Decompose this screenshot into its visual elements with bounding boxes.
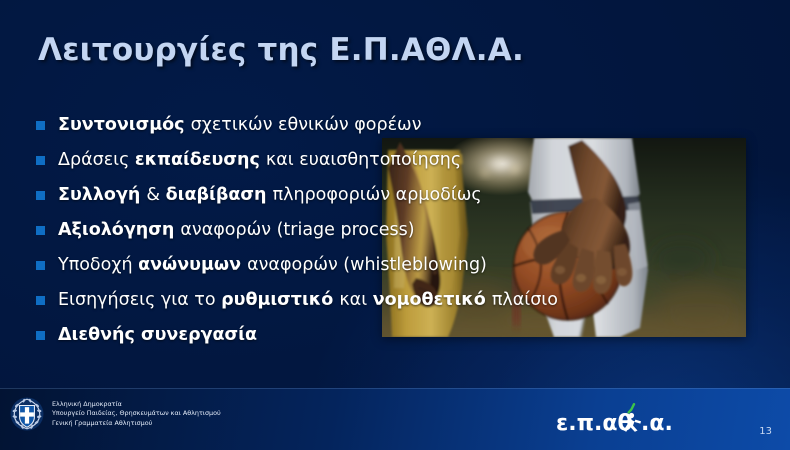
gov-line-1: Υπουργείο Παιδείας, Θρησκευμάτων και Αθλ… [52, 409, 221, 419]
bullet-text-1: Δράσεις εκπαίδευσης και ευαισθητοποίησης [58, 147, 461, 173]
square-bullet-icon [36, 156, 45, 165]
bullet-text-0: Συντονισμός σχετικών εθνικών φορέων [58, 112, 421, 138]
footer-divider [0, 388, 790, 389]
bullet-text-6: Διεθνής συνεργασία [58, 322, 257, 348]
square-bullet-icon [36, 261, 45, 270]
government-branding: Ελληνική Δημοκρατία Υπουργείο Παιδείας, … [10, 397, 221, 431]
list-item: Συλλογή & διαβίβαση πληροφοριών αρμοδίως [36, 182, 756, 217]
bullet-text-4: Υποδοχή ανώνυμων αναφορών (whistleblowin… [58, 252, 487, 278]
gov-line-0: Ελληνική Δημοκρατία [52, 400, 221, 410]
list-item: Διεθνής συνεργασία [36, 322, 756, 357]
gov-line-2: Γενική Γραμματεία Αθλητισμού [52, 419, 221, 429]
hellenic-republic-coat-of-arms-icon [10, 397, 44, 431]
epathla-text-before: ε.π.αθ [556, 411, 633, 436]
slide-footer: Ελληνική Δημοκρατία Υπουργείο Παιδείας, … [0, 388, 790, 450]
square-bullet-icon [36, 296, 45, 305]
square-bullet-icon [36, 331, 45, 340]
list-item: Συντονισμός σχετικών εθνικών φορέων [36, 112, 756, 147]
square-bullet-icon [36, 121, 45, 130]
bullet-list: Συντονισμός σχετικών εθνικών φορέων Δράσ… [36, 112, 756, 357]
epathla-text-after: .α. [641, 411, 673, 436]
list-item: Εισηγήσεις για το ρυθμιστικό και νομοθετ… [36, 287, 756, 322]
page-number: 13 [759, 426, 772, 437]
bullet-text-5: Εισηγήσεις για το ρυθμιστικό και νομοθετ… [58, 287, 558, 313]
epathla-logo-mark: ε.π.αθ .α. [556, 400, 676, 436]
government-text-block: Ελληνική Δημοκρατία Υπουργείο Παιδείας, … [52, 400, 221, 429]
epathla-logo: ε.π.αθ .α. [556, 400, 676, 436]
square-bullet-icon [36, 226, 45, 235]
bullet-text-2: Συλλογή & διαβίβαση πληροφοριών αρμοδίως [58, 182, 482, 208]
list-item: Δράσεις εκπαίδευσης και ευαισθητοποίησης [36, 147, 756, 182]
page-title: Λειτουργίες της Ε.Π.ΑΘΛ.Α. [38, 32, 524, 68]
presentation-slide: Λειτουργίες της Ε.Π.ΑΘΛ.Α. [0, 0, 790, 450]
green-check-icon [629, 404, 634, 412]
bullet-text-3: Αξιολόγηση αναφορών (triage process) [58, 217, 415, 243]
list-item: Υποδοχή ανώνυμων αναφορών (whistleblowin… [36, 252, 756, 287]
square-bullet-icon [36, 191, 45, 200]
list-item: Αξιολόγηση αναφορών (triage process) [36, 217, 756, 252]
